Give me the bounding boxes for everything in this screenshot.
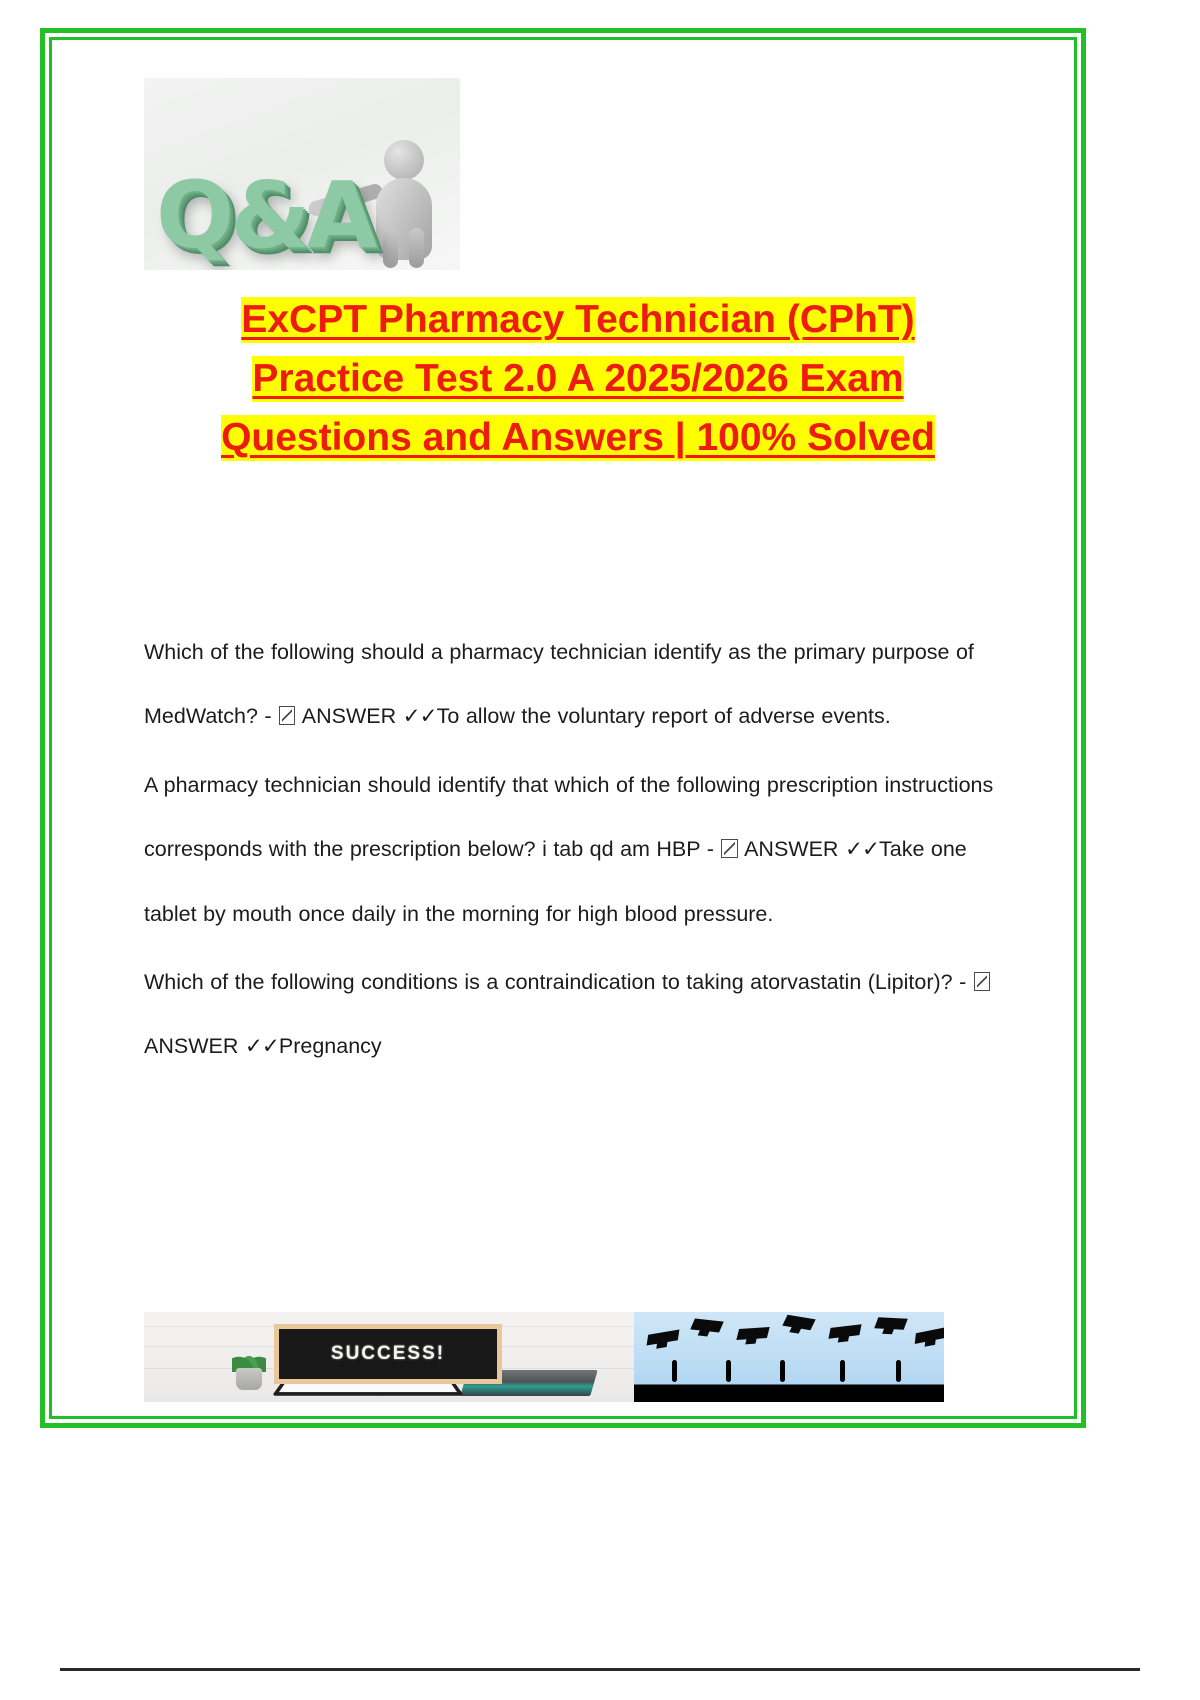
qa-answer-label: ANSWER	[744, 837, 838, 861]
document-title-line-3: Questions and Answers | 100% Solved	[221, 415, 935, 461]
document-page: Q&A ExCPT Pharmacy Technician (CPhT) Pra…	[52, 40, 1074, 1416]
qa-figure-leg-right-icon	[409, 228, 424, 268]
document-page-border-inner: Q&A ExCPT Pharmacy Technician (CPhT) Pra…	[49, 37, 1077, 1419]
double-check-icon: ✓✓	[845, 837, 879, 862]
graduation-caps-photo	[634, 1312, 944, 1402]
double-check-icon: ✓✓	[403, 704, 437, 729]
chalkboard-icon: SUCCESS!	[274, 1324, 502, 1384]
footer-image-strip: SUCCESS!	[144, 1312, 944, 1402]
missing-glyph-icon	[721, 839, 737, 859]
qa-figure-head-icon	[384, 140, 424, 180]
qa-answer: To allow the voluntary report of adverse…	[437, 704, 891, 728]
document-page-border: Q&A ExCPT Pharmacy Technician (CPhT) Pra…	[40, 28, 1086, 1428]
qa-answer: Pregnancy	[279, 1034, 382, 1058]
plant-pot-icon	[236, 1368, 262, 1390]
missing-glyph-icon	[974, 972, 990, 992]
qa-body: Which of the following should a pharmacy…	[144, 620, 1024, 1079]
document-title: ExCPT Pharmacy Technician (CPhT) Practic…	[144, 290, 1012, 467]
qa-logo-letters: Q&A	[156, 170, 374, 262]
document-title-line-1: ExCPT Pharmacy Technician (CPhT)	[241, 297, 914, 343]
qa-logo-image: Q&A	[144, 78, 460, 270]
qa-item: Which of the following should a pharmacy…	[144, 620, 1024, 749]
graduates-crowd-silhouette	[634, 1360, 944, 1402]
chalkboard-caption: SUCCESS!	[331, 1343, 445, 1365]
qa-item: A pharmacy technician should identify th…	[144, 753, 1024, 946]
page-bottom-rule	[60, 1668, 1140, 1671]
qa-answer-label: ANSWER	[302, 704, 396, 728]
double-check-icon: ✓✓	[245, 1034, 279, 1059]
qa-separator: -	[707, 837, 714, 861]
success-chalkboard-photo: SUCCESS!	[144, 1312, 634, 1402]
qa-answer-label: ANSWER	[144, 1034, 238, 1058]
qa-question: Which of the following conditions is a c…	[144, 970, 953, 994]
qa-item: Which of the following conditions is a c…	[144, 950, 1024, 1079]
document-title-line-2: Practice Test 2.0 A 2025/2026 Exam	[252, 356, 903, 402]
qa-separator: -	[264, 704, 271, 728]
qa-figure-leg-left-icon	[383, 228, 398, 268]
missing-glyph-icon	[279, 706, 295, 726]
